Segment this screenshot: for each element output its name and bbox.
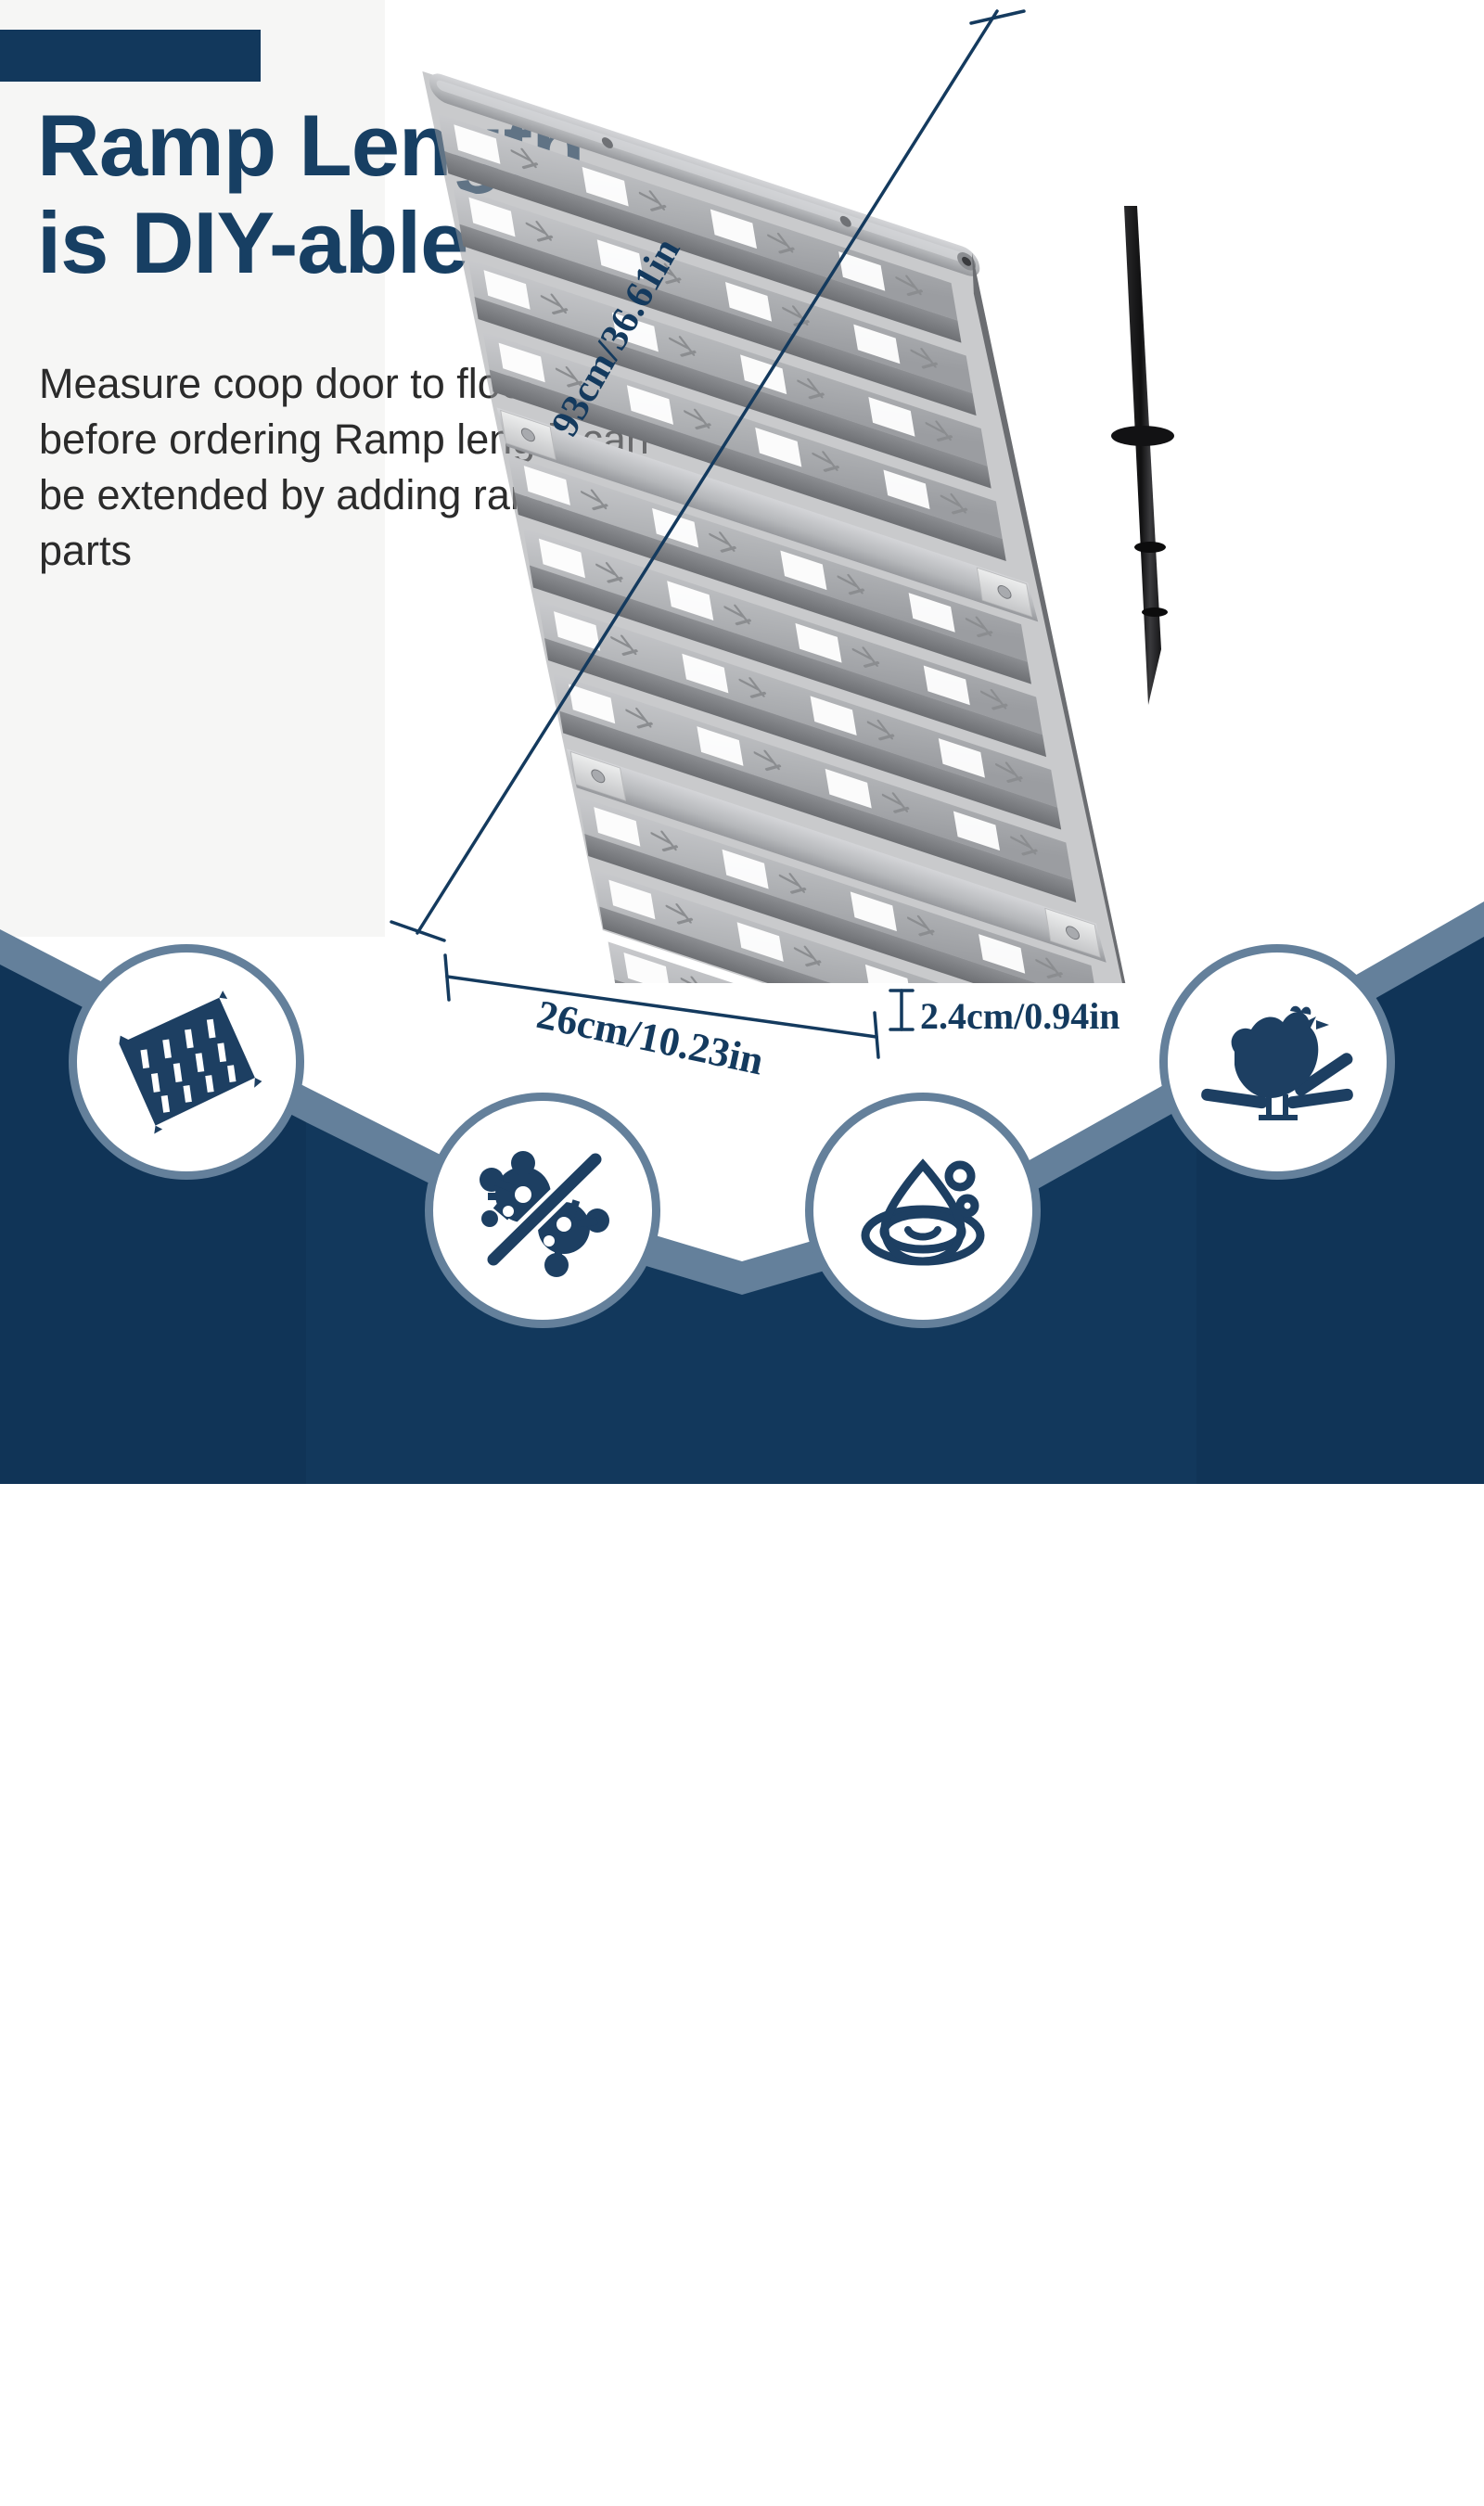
feature-circle-4	[1159, 944, 1395, 1180]
feature-circle-3	[805, 1093, 1041, 1328]
chicken-on-slats-icon	[1194, 983, 1361, 1141]
infographic-canvas: Ramp Length is DIY-able Measure coop doo…	[0, 0, 1484, 1484]
feature-label-1: High-Quality Plastic	[28, 2168, 417, 2255]
thickness-dimension-label: 2.4cm/0.94in	[920, 994, 1120, 1038]
accent-bar	[0, 30, 261, 82]
germ-no-icon	[460, 1128, 625, 1293]
ground-stake-icon	[1111, 206, 1174, 705]
ramp-product-image	[390, 0, 1484, 983]
feature-label-2: Rot-Resistant	[352, 2463, 742, 2506]
feature-circle-1	[69, 944, 304, 1180]
water-drop-icon	[844, 1132, 1002, 1289]
ramp-panel-icon	[108, 983, 265, 1141]
feature-circle-2	[425, 1093, 660, 1328]
feature-label-4: Non-Slip	[1083, 2168, 1473, 2211]
feature-label-3: Waterproof	[733, 2463, 1122, 2506]
